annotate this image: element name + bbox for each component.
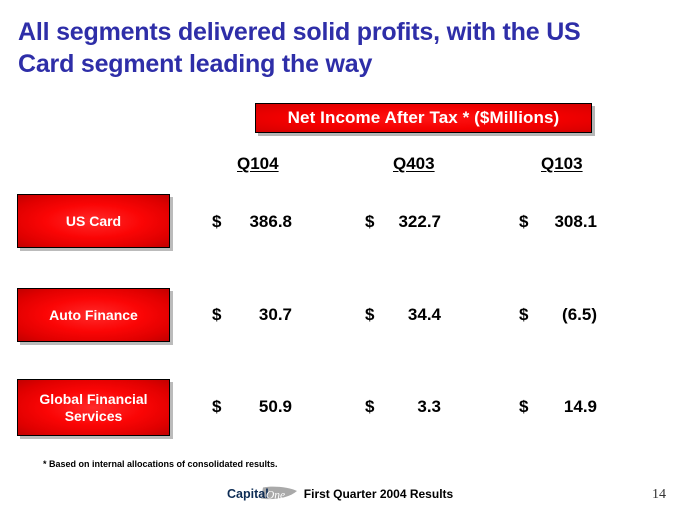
segment-label: US Card xyxy=(62,213,125,230)
segment-box-global-financial-services: Global Financial Services xyxy=(17,379,170,436)
segment-box-us-card: US Card xyxy=(17,194,170,248)
currency-symbol: $ xyxy=(212,397,221,417)
currency-symbol: $ xyxy=(519,212,528,232)
footnote: * Based on internal allocations of conso… xyxy=(43,459,278,469)
column-header-q403: Q403 xyxy=(393,154,435,174)
currency-symbol: $ xyxy=(365,305,374,325)
footer-center-group: Capital One First Quarter 2004 Results xyxy=(0,486,680,501)
cell-value: 322.7 xyxy=(398,212,441,232)
cell-value: 50.9 xyxy=(259,397,292,417)
column-header-q103: Q103 xyxy=(541,154,583,174)
capital-one-logo: Capital One xyxy=(227,486,299,501)
page-title-line-2: Card segment leading the way xyxy=(18,48,648,80)
footer-text: First Quarter 2004 Results xyxy=(304,487,453,501)
net-income-banner: Net Income After Tax * ($Millions) xyxy=(255,103,592,133)
currency-symbol: $ xyxy=(212,212,221,232)
svg-text:One: One xyxy=(266,490,285,502)
cell-value: 34.4 xyxy=(408,305,441,325)
currency-symbol: $ xyxy=(212,305,221,325)
footer: Capital One First Quarter 2004 Results 1… xyxy=(0,486,680,506)
segment-label: Auto Finance xyxy=(45,307,142,324)
page-title: All segments delivered solid profits, wi… xyxy=(18,16,648,80)
segment-box-auto-finance: Auto Finance xyxy=(17,288,170,342)
page-title-line-1: All segments delivered solid profits, wi… xyxy=(18,16,648,48)
cell-value: 308.1 xyxy=(554,212,597,232)
cell-value: 30.7 xyxy=(259,305,292,325)
currency-symbol: $ xyxy=(365,397,374,417)
net-income-banner-label: Net Income After Tax * ($Millions) xyxy=(288,108,560,128)
currency-symbol: $ xyxy=(365,212,374,232)
currency-symbol: $ xyxy=(519,305,528,325)
svg-text:Capital: Capital xyxy=(227,487,269,501)
segment-label: Global Financial Services xyxy=(18,391,169,425)
cell-value: (6.5) xyxy=(562,305,597,325)
currency-symbol: $ xyxy=(519,397,528,417)
page-number: 14 xyxy=(652,487,666,503)
cell-value: 3.3 xyxy=(417,397,441,417)
cell-value: 386.8 xyxy=(249,212,292,232)
column-header-q104: Q104 xyxy=(237,154,279,174)
cell-value: 14.9 xyxy=(564,397,597,417)
